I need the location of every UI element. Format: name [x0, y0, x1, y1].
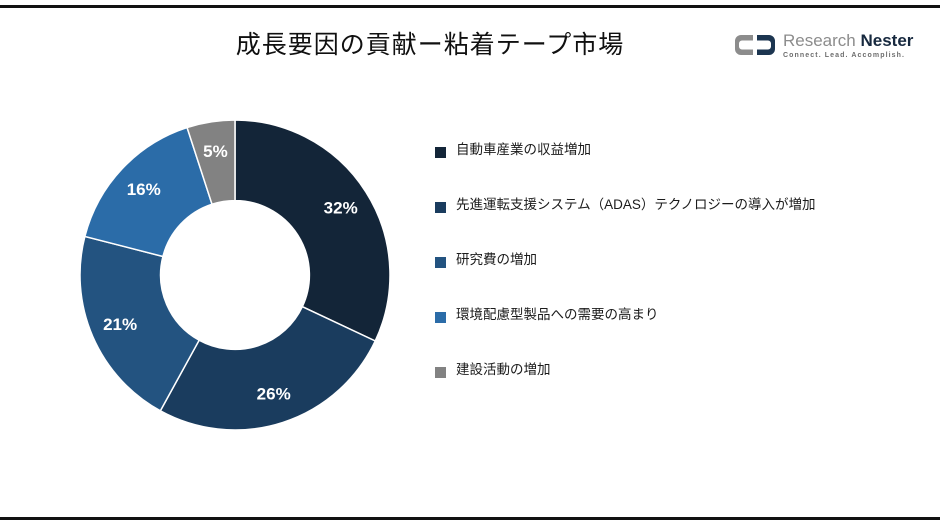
legend-swatch-icon	[435, 257, 446, 268]
logo-text: Research Nester Connect. Lead. Accomplis…	[783, 31, 909, 61]
legend-item-label: 研究費の増加	[456, 250, 537, 270]
chart-legend: 自動車産業の収益増加先進運転支援システム（ADAS）テクノロジーの導入が増加研究…	[435, 140, 915, 415]
bottom-border-line	[0, 517, 940, 520]
brand-logo: Research Nester Connect. Lead. Accomplis…	[733, 31, 909, 65]
donut-slice	[160, 307, 375, 430]
legend-item[interactable]: 環境配慮型製品への需要の高まり	[435, 305, 915, 360]
logo-mark-icon	[733, 33, 777, 57]
legend-swatch-icon	[435, 312, 446, 323]
legend-item-label: 建設活動の増加	[456, 360, 551, 380]
donut-slice-label: 5%	[203, 142, 228, 161]
legend-swatch-icon	[435, 202, 446, 213]
donut-slice-label: 21%	[103, 315, 137, 334]
donut-chart-svg: 32%26%21%16%5%	[72, 112, 398, 438]
logo-name: Research Nester	[783, 31, 909, 50]
donut-chart: 32%26%21%16%5%	[72, 112, 398, 438]
legend-swatch-icon	[435, 367, 446, 378]
legend-item[interactable]: 先進運転支援システム（ADAS）テクノロジーの導入が増加	[435, 195, 915, 250]
legend-item-label: 環境配慮型製品への需要の高まり	[456, 305, 659, 325]
logo-name-nester: Nester	[861, 31, 914, 50]
legend-swatch-icon	[435, 147, 446, 158]
legend-item[interactable]: 自動車産業の収益増加	[435, 140, 915, 195]
donut-slice-label: 16%	[127, 180, 161, 199]
legend-item-label: 先進運転支援システム（ADAS）テクノロジーの導入が増加	[456, 195, 816, 215]
donut-slice-label: 26%	[257, 385, 291, 404]
top-border-line	[0, 5, 940, 8]
legend-item-label: 自動車産業の収益増加	[456, 140, 591, 160]
logo-name-research: Research	[783, 31, 856, 50]
legend-item[interactable]: 建設活動の増加	[435, 360, 915, 415]
legend-item[interactable]: 研究費の増加	[435, 250, 915, 305]
slide-canvas: 成長要因の貢献ー粘着テープ市場 Research Nester Connect.…	[0, 0, 940, 529]
donut-slices	[80, 120, 390, 430]
logo-tagline: Connect. Lead. Accomplish.	[783, 51, 909, 61]
page-title: 成長要因の貢献ー粘着テープ市場	[150, 29, 710, 63]
donut-slice	[235, 120, 390, 341]
donut-slice-label: 32%	[324, 198, 358, 217]
